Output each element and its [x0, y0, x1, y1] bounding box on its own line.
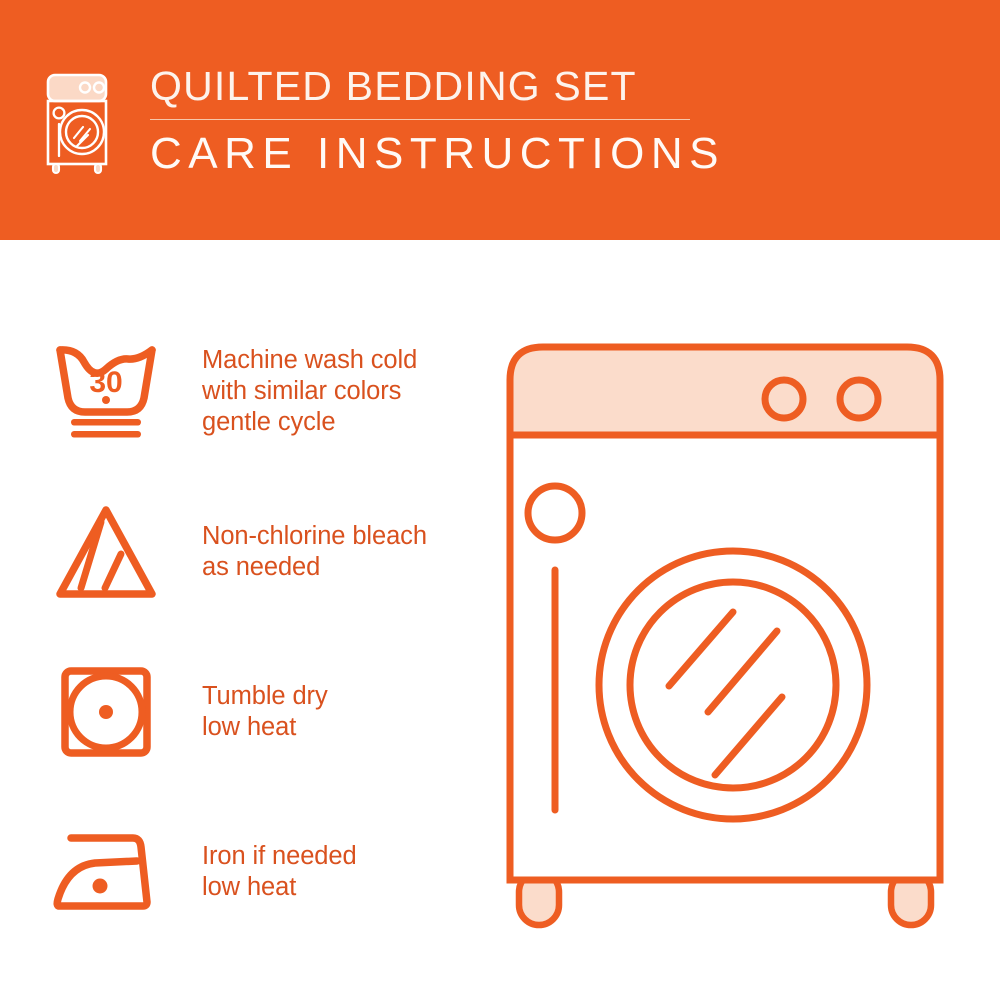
care-symbol-slot: [44, 502, 168, 602]
care-symbol-slot: [44, 662, 168, 762]
care-text-line: as needed: [202, 552, 427, 583]
care-instruction-text: Non-chlorine bleach as needed: [202, 521, 427, 583]
washing-machine-icon: [44, 72, 110, 176]
care-symbol-slot: 30: [44, 340, 168, 444]
iron-low-heat-icon: [50, 826, 162, 918]
care-instruction-list: 30 Machine wash cold with similar colors…: [44, 330, 474, 933]
care-text-line: Iron if needed: [202, 841, 357, 872]
front-load-washing-machine-illustration: [485, 335, 965, 945]
care-text-line: with similar colors: [202, 376, 417, 407]
care-instructions-page: QUILTED BEDDING SET CARE INSTRUCTIONS 30: [0, 0, 1000, 1000]
bleach-triangle-icon: [51, 502, 161, 602]
care-text-line: Non-chlorine bleach: [202, 521, 427, 552]
care-text-line: Machine wash cold: [202, 345, 417, 376]
care-instruction-text: Tumble dry low heat: [202, 681, 328, 743]
care-text-line: low heat: [202, 872, 357, 903]
care-instruction-text: Machine wash cold with similar colors ge…: [202, 345, 417, 438]
wash-temperature-value: 30: [89, 366, 122, 399]
header-text-block: QUILTED BEDDING SET CARE INSTRUCTIONS: [150, 62, 725, 180]
care-text-line: gentle cycle: [202, 407, 417, 438]
care-text-line: low heat: [202, 712, 328, 743]
content-area: 30 Machine wash cold with similar colors…: [0, 240, 1000, 1000]
care-symbol-slot: [44, 826, 168, 918]
title-divider: [150, 119, 690, 120]
wash-tub-30-icon: 30: [51, 340, 161, 444]
list-item: Iron if needed low heat: [44, 810, 474, 933]
header-content: QUILTED BEDDING SET CARE INSTRUCTIONS: [44, 62, 725, 180]
page-title: QUILTED BEDDING SET: [150, 62, 725, 110]
list-item: 30 Machine wash cold with similar colors…: [44, 330, 474, 453]
care-text-line: Tumble dry: [202, 681, 328, 712]
page-subtitle: CARE INSTRUCTIONS: [150, 128, 725, 180]
list-item: Tumble dry low heat: [44, 650, 474, 773]
care-instruction-text: Iron if needed low heat: [202, 841, 357, 903]
header-banner: QUILTED BEDDING SET CARE INSTRUCTIONS: [0, 0, 1000, 240]
cabinet-body: [510, 435, 940, 880]
tumble-dry-low-icon: [56, 662, 156, 762]
list-item: Non-chlorine bleach as needed: [44, 490, 474, 613]
